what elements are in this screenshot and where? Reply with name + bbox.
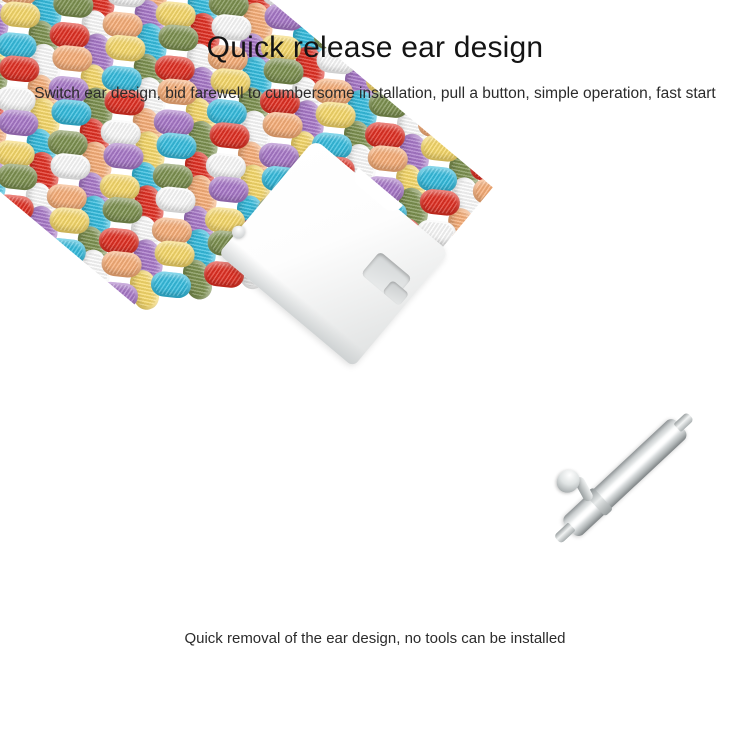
braid-knot	[47, 260, 89, 289]
braid-knot	[0, 247, 34, 276]
footer-caption: Quick removal of the ear design, no tool…	[0, 628, 750, 650]
braid-knot	[22, 234, 57, 279]
product-feature-image: Quick release ear design Switch ear desi…	[0, 0, 750, 750]
braid-knot	[45, 237, 87, 266]
spring-bar-highlight	[570, 426, 679, 528]
spring-bar-rotated	[498, 351, 750, 613]
spring-bar-pin	[534, 392, 724, 572]
braid-knot	[0, 216, 38, 245]
braid-knot	[74, 278, 109, 323]
page-title: Quick release ear design	[0, 30, 750, 66]
braid-knot	[25, 257, 60, 302]
braid-knot	[0, 190, 5, 235]
page-subtitle: Switch ear design, bid farewell to cumbe…	[26, 82, 724, 106]
braid-knot	[44, 291, 86, 320]
braid-knot	[0, 213, 7, 258]
braid-knot	[97, 281, 139, 310]
braid-knot	[468, 208, 493, 237]
braid-knot	[0, 0, 41, 29]
